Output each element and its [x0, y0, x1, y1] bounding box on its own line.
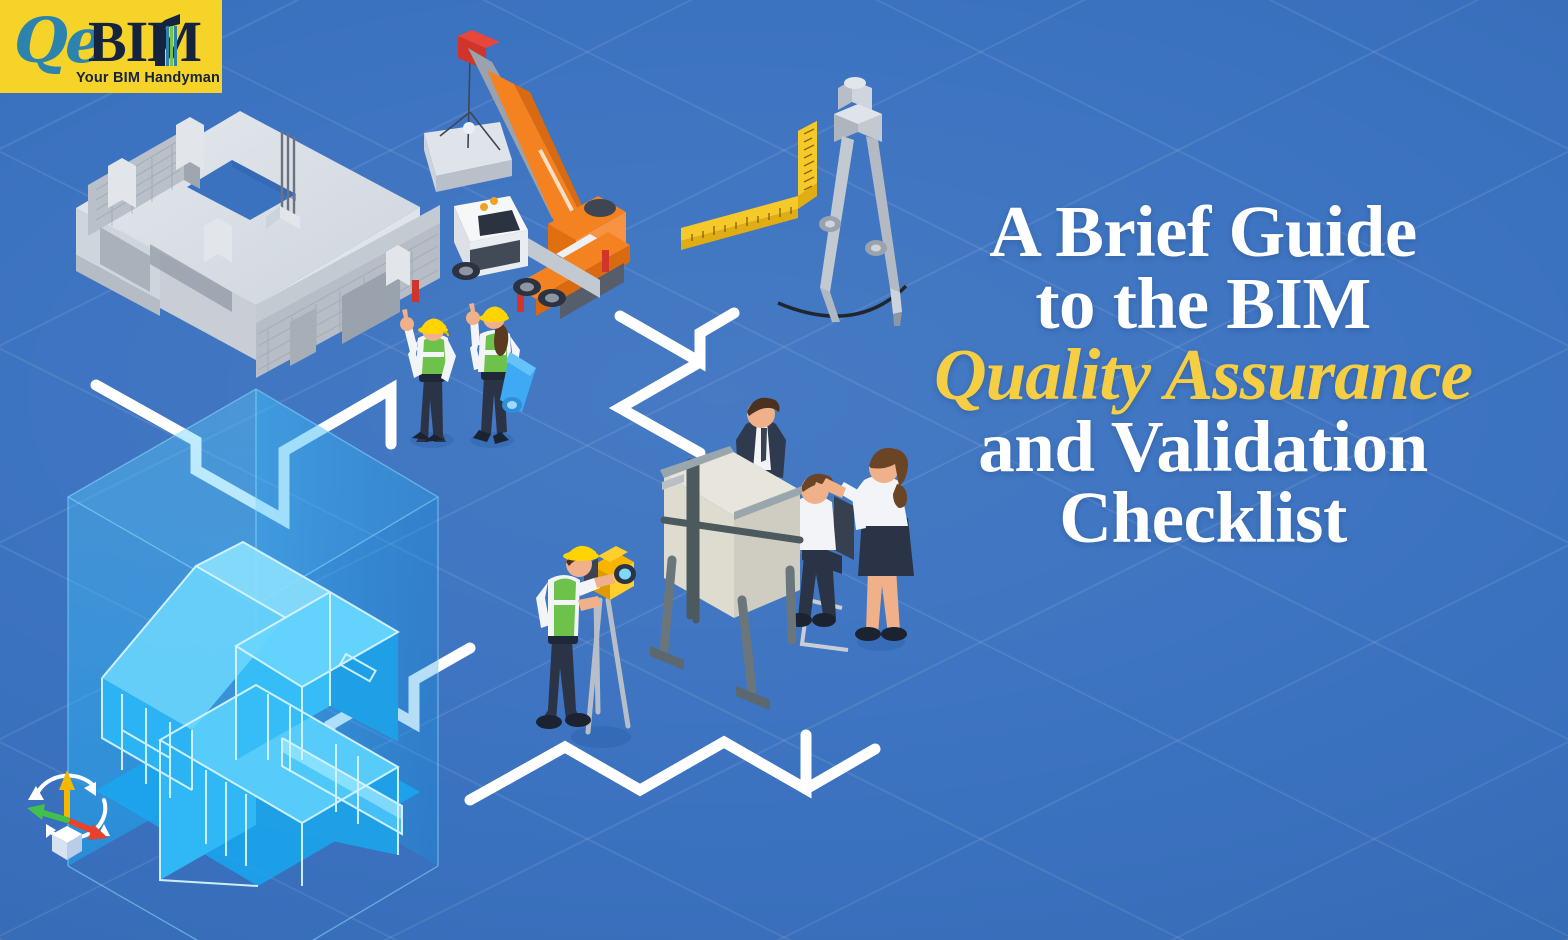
- logo-bim-text: BIM: [88, 8, 201, 75]
- headline-accent: Quality Assurance: [838, 339, 1568, 411]
- bim-house-model: [68, 389, 438, 940]
- set-square-ruler: [681, 121, 817, 250]
- logo-tagline: Your BIM Handyman: [76, 70, 220, 86]
- two-site-workers: [400, 303, 536, 448]
- poster-canvas: Qe BIM Your BIM Handyman A Brief Guide t…: [0, 0, 1568, 940]
- concrete-building-under-construction: [76, 111, 440, 378]
- surveyor-with-theodolite: [536, 546, 636, 748]
- headline-line-4: and Validation: [838, 411, 1568, 483]
- drafting-board: [650, 446, 802, 710]
- headline-line-1: A Brief Guide: [838, 196, 1568, 268]
- headline-block: A Brief Guide to the BIM Quality Assuran…: [838, 196, 1568, 554]
- mobile-crane-truck: [412, 30, 630, 319]
- headline-line-5: Checklist: [838, 482, 1568, 554]
- logo-building-icon: [155, 14, 180, 66]
- headline-line-2: to the BIM: [838, 268, 1568, 340]
- qebim-logo[interactable]: Qe BIM Your BIM Handyman: [0, 0, 222, 93]
